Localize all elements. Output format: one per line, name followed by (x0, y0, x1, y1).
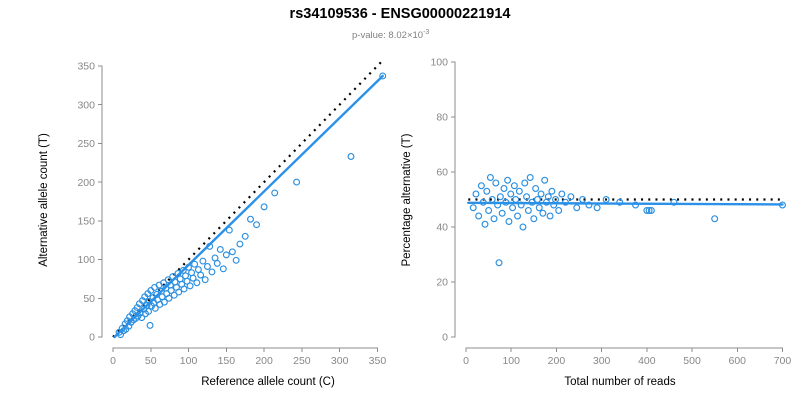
regression-line (468, 203, 782, 205)
x-axis-tick-label: 350 (369, 355, 387, 367)
y-axis-tick-label: 250 (77, 138, 95, 150)
x-axis-tick-label: 400 (638, 355, 656, 367)
x-axis-tick-label: 0 (110, 355, 116, 367)
subtitle-prefix: p-value: 8.02 (352, 30, 407, 41)
y-axis-tick-label: 80 (436, 112, 448, 124)
y-axis-tick-label: 100 (77, 254, 95, 266)
x-axis-tick-label: 500 (683, 355, 701, 367)
x-axis-tick-label: 250 (293, 355, 311, 367)
x-axis-tick-label: 700 (774, 355, 792, 367)
subtitle-exponent: -3 (423, 29, 429, 36)
y-axis-title: Alternative allele count (T) (38, 133, 50, 267)
subtitle-pvalue: p-value: 8.02×10-3 (352, 29, 429, 41)
x-axis-tick-label: 200 (548, 355, 566, 367)
x-axis-tick-label: 100 (180, 355, 198, 367)
svg-text:p-value: 8.02×10-3: p-value: 8.02×10-3 (352, 29, 429, 41)
y-axis-tick-label: 200 (77, 177, 95, 189)
x-axis-tick-label: 300 (331, 355, 349, 367)
x-axis-tick-label: 600 (729, 355, 747, 367)
y-axis-tick-label: 150 (77, 216, 95, 228)
x-axis-title: Reference allele count (C) (201, 376, 335, 388)
x-axis-tick-label: 100 (502, 355, 520, 367)
y-axis-tick-label: 0 (442, 332, 448, 344)
allelic-expression-figure: rs34109536 - ENSG00000221914 p-value: 8.… (0, 0, 800, 400)
y-axis-tick-label: 50 (83, 293, 95, 305)
x-axis-tick-label: 200 (255, 355, 273, 367)
y-axis-tick-label: 100 (430, 57, 448, 69)
x-axis-tick-label: 50 (145, 355, 157, 367)
subtitle-base: 10 (413, 30, 424, 41)
y-axis-tick-label: 0 (89, 332, 95, 344)
page-title: rs34109536 - ENSG00000221914 (290, 6, 511, 22)
figure-background (0, 0, 800, 400)
y-axis-tick-label: 20 (436, 277, 448, 289)
x-axis-title: Total number of reads (564, 376, 675, 388)
x-axis-tick-label: 150 (218, 355, 236, 367)
y-axis-tick-label: 60 (436, 167, 448, 179)
y-axis-title: Percentage alternative (T) (401, 133, 413, 266)
y-axis-tick-label: 40 (436, 222, 448, 234)
y-axis-tick-label: 350 (77, 61, 95, 73)
x-axis-tick-label: 300 (593, 355, 611, 367)
x-axis-tick-label: 0 (463, 355, 469, 367)
y-axis-tick-label: 300 (77, 99, 95, 111)
